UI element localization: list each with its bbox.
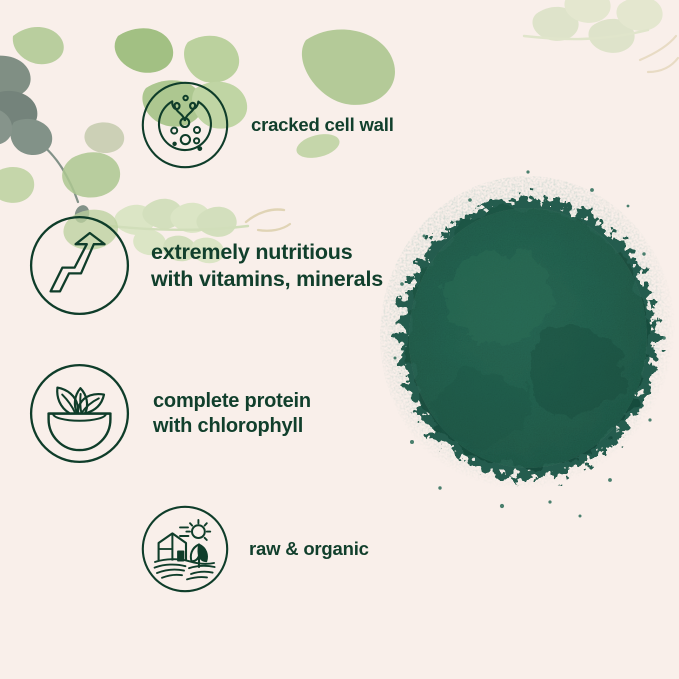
leaf-icon [0, 56, 91, 225]
leaf-icon [13, 27, 64, 64]
powder-grains [394, 170, 666, 517]
feature-row-complete-protein: complete protein with chlorophyll [29, 363, 311, 464]
bowl-with-leaves-icon [29, 363, 130, 464]
product-infographic: cracked cell wall extremely nutritious w… [0, 0, 679, 679]
rising-arrow-icon [29, 215, 130, 316]
feature-row-raw-and-organic: raw & organic [141, 505, 369, 593]
feature-label: extremely nutritious with vitamins, mine… [151, 239, 383, 291]
feature-label: raw & organic [249, 538, 369, 561]
feature-row-extremely-nutritious: extremely nutritious with vitamins, mine… [29, 215, 383, 316]
feature-label: complete protein with chlorophyll [153, 389, 311, 438]
feature-label: cracked cell wall [251, 114, 394, 137]
feature-row-cracked-cell-wall: cracked cell wall [141, 81, 394, 169]
farm-scene-icon [141, 505, 229, 593]
cracked-cell-wall-icon [141, 81, 229, 169]
leaf-icon [524, 0, 678, 72]
spirulina-powder-pile [378, 158, 679, 518]
